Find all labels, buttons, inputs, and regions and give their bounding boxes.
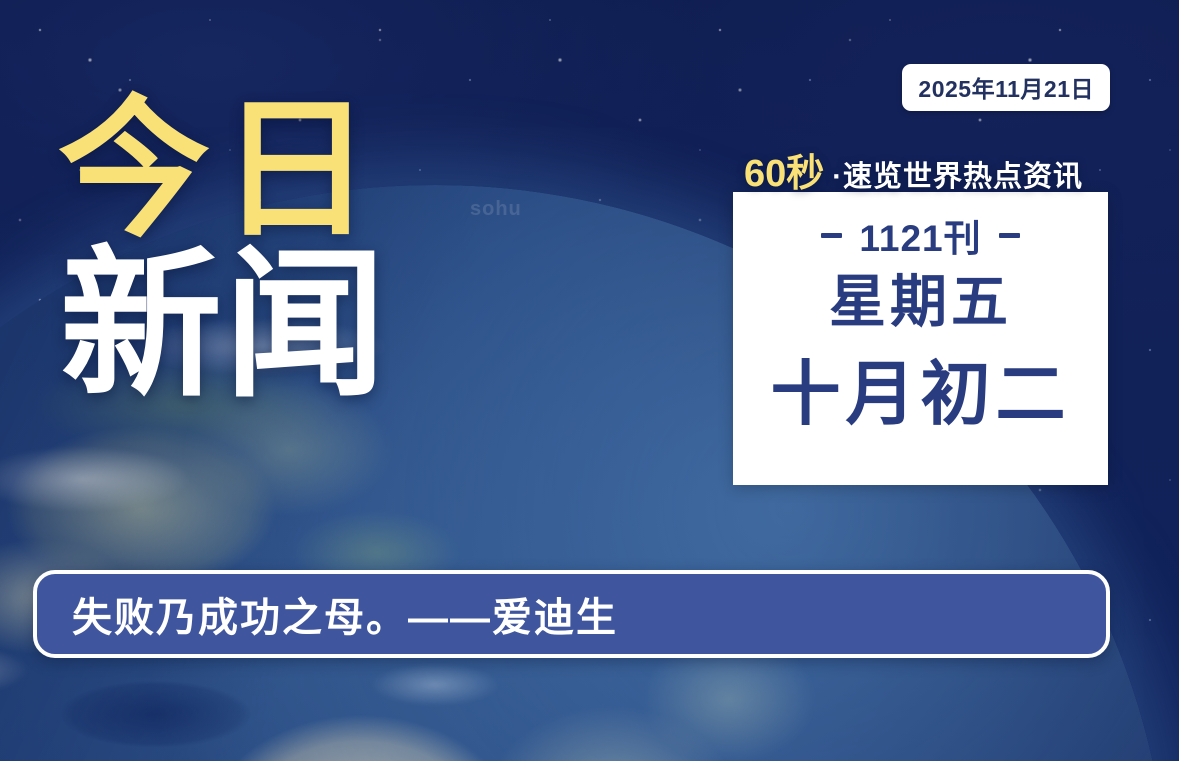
tagline: 60秒 ·速览世界热点资讯 [744,142,1083,197]
watermark-text: sohu [470,198,522,221]
quote-bar: 失败乃成功之母。——爱迪生 [33,570,1110,658]
issue-number-row: 1121刊 [821,208,1019,262]
news-poster: sohu 今日 新闻 2025年11月21日 60秒 ·速览世界热点资讯 112… [0,0,1179,761]
quote-text: 失败乃成功之母。——爱迪生 [37,585,618,643]
lunar-date-label: 十月初二 [771,359,1071,429]
weekday-label: 星期五 [829,274,1012,331]
dash-left-icon [821,233,842,238]
tagline-description: ·速览世界热点资讯 [832,153,1083,195]
tagline-duration: 60秒 [744,142,824,197]
info-card: 1121刊 星期五 十月初二 [733,192,1108,485]
headline-line-today: 今日 [58,96,388,245]
headline-line-news: 新闻 [60,247,388,406]
dash-right-icon [999,233,1020,238]
issue-number: 1121刊 [859,208,981,262]
date-badge: 2025年11月21日 [902,64,1110,111]
page-title: 今日 新闻 [58,96,388,406]
